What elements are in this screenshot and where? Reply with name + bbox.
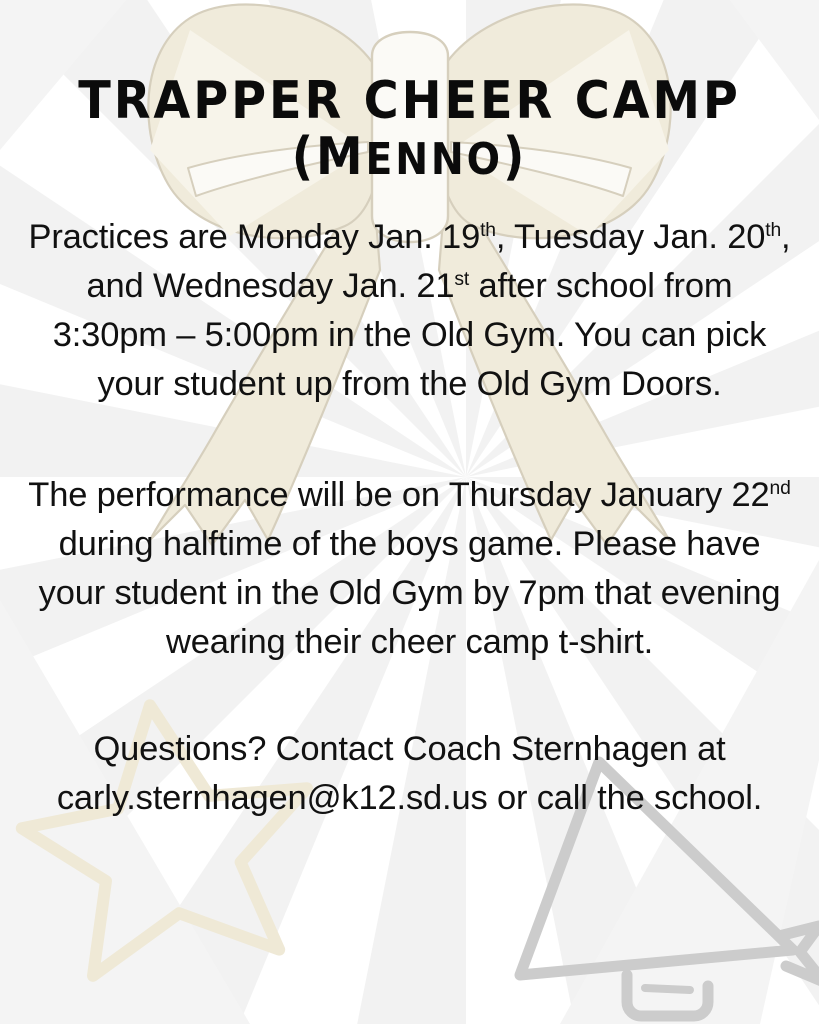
paragraph-questions: Questions? Contact Coach Sternhagen at c… xyxy=(26,725,793,823)
paragraph-practices: Practices are Monday Jan. 19th, Tuesday … xyxy=(26,213,793,409)
performance-seg-2: during halftime of the boys game. Please… xyxy=(39,525,781,661)
flyer-content: Trapper Cheer Camp (MENNO) Practices are… xyxy=(0,0,819,1024)
paragraph-performance: The performance will be on Thursday Janu… xyxy=(26,471,793,667)
subtitle-close-paren: ) xyxy=(503,127,527,187)
body-text: Practices are Monday Jan. 19th, Tuesday … xyxy=(26,213,793,823)
ordinal-21st: st xyxy=(454,269,469,290)
ordinal-19th: th xyxy=(480,220,496,241)
page-title: Trapper Cheer Camp xyxy=(18,76,800,126)
subtitle-initial: M xyxy=(316,127,365,187)
ordinal-20th: th xyxy=(765,220,781,241)
practices-seg-2: , Tuesday Jan. 20 xyxy=(496,218,765,256)
ordinal-22nd: nd xyxy=(770,478,791,499)
page-subtitle: (MENNO) xyxy=(26,132,793,182)
contact-email-line: carly.sternhagen@k12.sd.us or call the s… xyxy=(26,774,793,823)
questions-line-1: Questions? Contact Coach Sternhagen at xyxy=(26,725,793,774)
subtitle-rest: ENNO xyxy=(365,134,502,185)
performance-seg-1: The performance will be on Thursday Janu… xyxy=(28,476,769,514)
flyer-canvas: Trapper Cheer Camp (MENNO) Practices are… xyxy=(0,0,819,1024)
title-block: Trapper Cheer Camp (MENNO) xyxy=(26,0,793,183)
subtitle-open-paren: ( xyxy=(292,127,316,187)
practices-seg-1: Practices are Monday Jan. 19 xyxy=(29,218,481,256)
